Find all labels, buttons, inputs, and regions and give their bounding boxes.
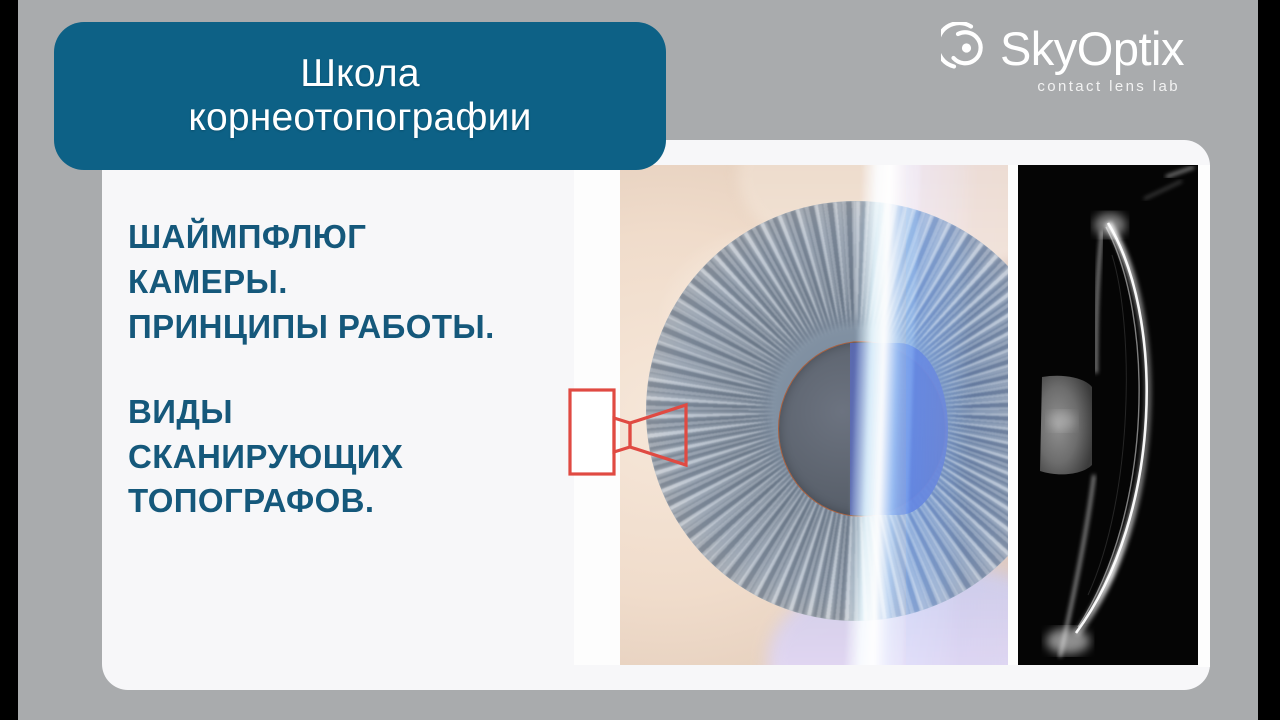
headline-spacer	[128, 350, 598, 390]
page-title: Школа корнеотопографии	[188, 52, 531, 141]
scheimpflug-cross-section-scan	[1016, 165, 1198, 665]
slide-canvas: ШАЙМПФЛЮГ КАМЕРЫ. ПРИНЦИПЫ РАБОТЫ. ВИДЫ …	[18, 0, 1258, 720]
scheimpflug-camera-schematic	[568, 385, 688, 483]
logo-tagline: contact lens lab	[941, 78, 1180, 95]
logo-row: SkyOptix	[941, 22, 1184, 74]
logo-wordmark: SkyOptix	[1000, 25, 1184, 72]
headline-line-group-1: ШАЙМПФЛЮГ КАМЕРЫ. ПРИНЦИПЫ РАБОТЫ.	[128, 215, 598, 350]
headline-block: ШАЙМПФЛЮГ КАМЕРЫ. ПРИНЦИПЫ РАБОТЫ. ВИДЫ …	[128, 215, 598, 524]
figure-gutter-right	[1198, 165, 1210, 667]
letterbox-bar-right	[1258, 0, 1280, 720]
slide-screenshot: ШАЙМПФЛЮГ КАМЕРЫ. ПРИНЦИПЫ РАБОТЫ. ВИДЫ …	[0, 0, 1280, 720]
figure-gutter-middle	[1008, 165, 1018, 665]
title-badge: Школа корнеотопографии	[54, 22, 666, 170]
letterbox-bar-left	[0, 0, 18, 720]
brand-logo: SkyOptix contact lens lab	[941, 22, 1184, 95]
headline-line-group-2: ВИДЫ СКАНИРУЮЩИХ ТОПОГРАФОВ.	[128, 390, 598, 525]
spiral-eye-icon	[941, 22, 993, 74]
